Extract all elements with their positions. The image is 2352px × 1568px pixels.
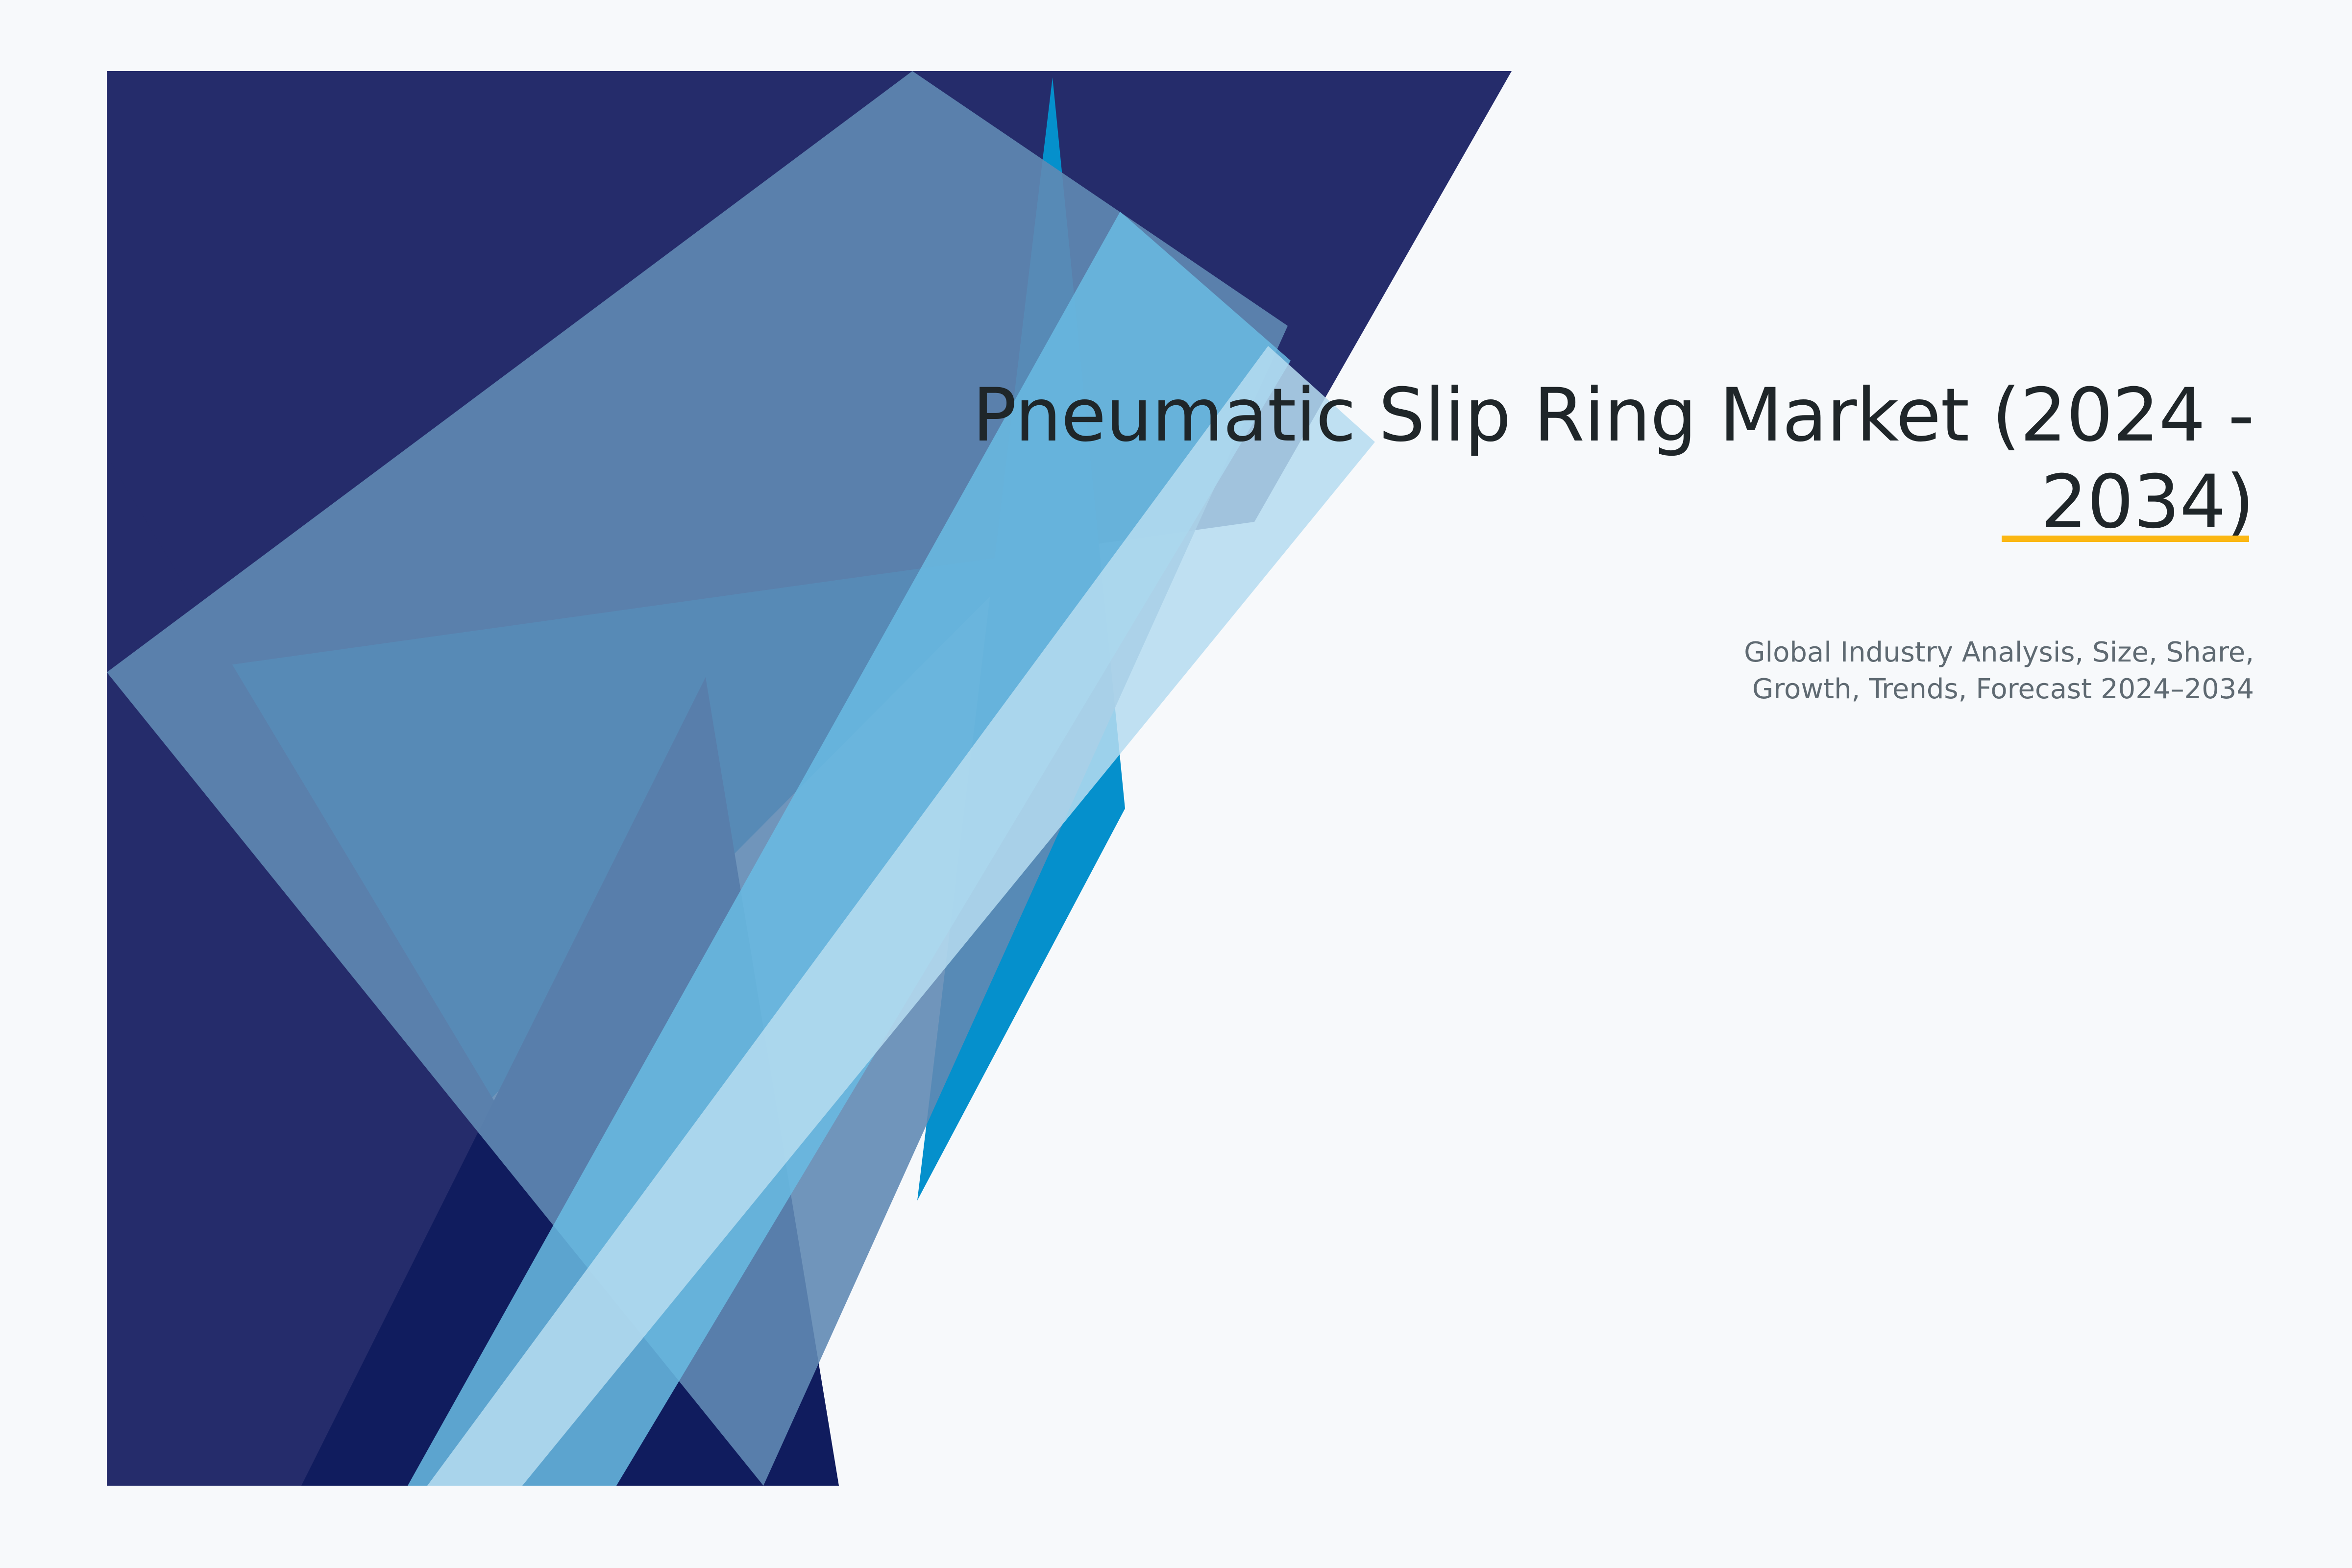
abstract-polygon-artwork bbox=[0, 0, 2352, 1568]
title-wrap: Pneumatic Slip Ring Market (2024 - 2034) bbox=[862, 372, 2254, 546]
shape-steel-quad bbox=[107, 71, 1288, 1486]
page-subtitle: Global Industry Analysis, Size, Share, G… bbox=[862, 546, 2254, 708]
cover-slide: Pneumatic Slip Ring Market (2024 - 2034)… bbox=[0, 0, 2352, 1568]
shape-deep-navy-spike bbox=[301, 677, 839, 1486]
accent-underline bbox=[2002, 536, 2249, 542]
shape-cyan-field bbox=[107, 71, 1512, 1486]
page-title: Pneumatic Slip Ring Market (2024 - 2034) bbox=[862, 372, 2254, 546]
shape-navy-left-column bbox=[107, 456, 725, 1486]
cover-text-block: Pneumatic Slip Ring Market (2024 - 2034)… bbox=[862, 372, 2254, 708]
